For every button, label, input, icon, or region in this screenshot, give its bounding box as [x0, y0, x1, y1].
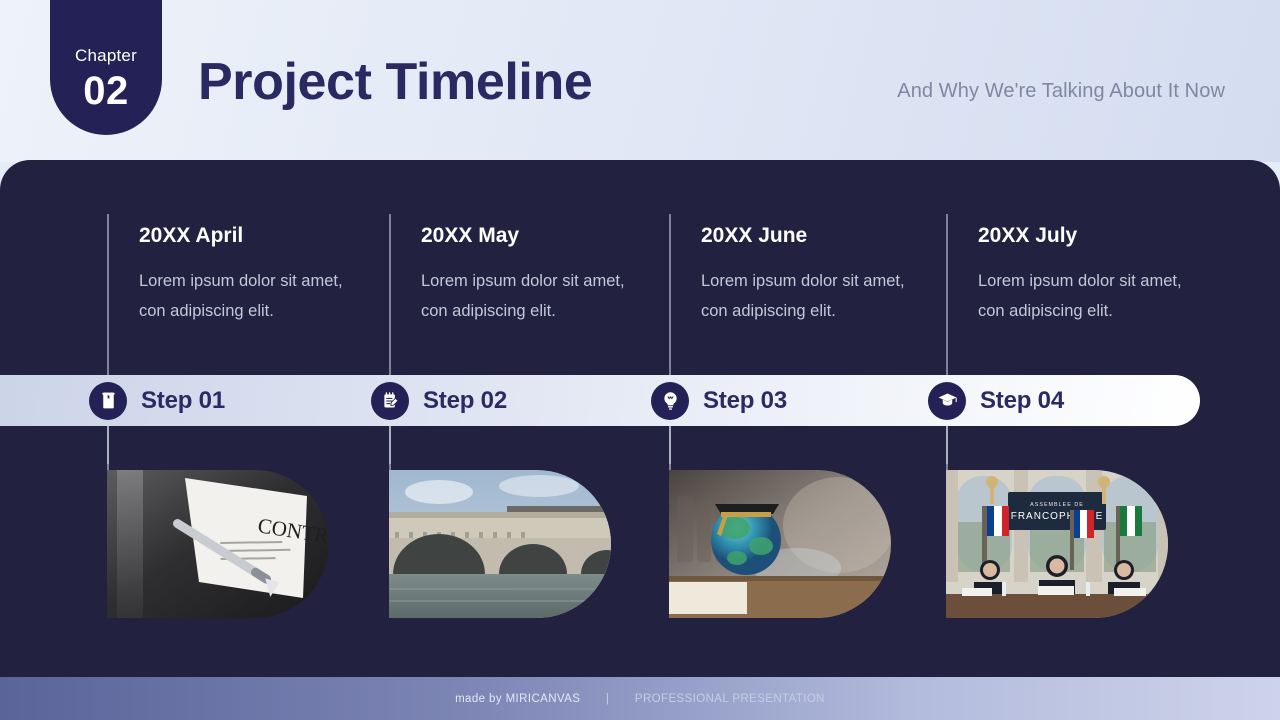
step-label: Step 02 — [423, 387, 507, 415]
chapter-word: Chapter — [75, 47, 137, 64]
column-description: Lorem ipsum dolor sit amet, con adipisci… — [139, 266, 354, 326]
slide: Chapter 02 Project Timeline And Why We'r… — [0, 0, 1280, 720]
globe-graduation-cap-photo — [669, 470, 891, 618]
column-description: Lorem ipsum dolor sit amet, con adipisci… — [421, 266, 636, 326]
paris-bridge-photo — [389, 470, 611, 618]
column-title: 20XX May — [421, 224, 519, 248]
step-item-4[interactable]: Step 04 — [928, 375, 1064, 426]
footer-separator: | — [606, 693, 609, 705]
chapter-number: 02 — [83, 71, 129, 111]
column-description: Lorem ipsum dolor sit amet, con adipisci… — [701, 266, 916, 326]
step-label: Step 03 — [703, 387, 787, 415]
francophonie-assembly-photo: ASSEMBLEE DE FRANCOPHONIE — [946, 470, 1168, 618]
slide-header: Chapter 02 Project Timeline And Why We'r… — [0, 0, 1280, 162]
contract-with-pen-photo: CONTR — [107, 470, 329, 618]
column-divider-lower — [389, 426, 391, 470]
slide-footer: made by MIRICANVAS | PROFESSIONAL PRESEN… — [0, 677, 1280, 720]
step-item-2[interactable]: Step 02 — [371, 375, 507, 426]
step-label: Step 01 — [141, 387, 225, 415]
column-title: 20XX April — [139, 224, 243, 248]
column-title: 20XX June — [701, 224, 807, 248]
footer-tagline: PROFESSIONAL PRESENTATION — [635, 693, 825, 705]
step-item-3[interactable]: Step 03 — [651, 375, 787, 426]
notepad-pencil-icon — [371, 382, 409, 420]
graduation-cap-icon — [928, 382, 966, 420]
step-item-1[interactable]: Step 01 — [89, 375, 225, 426]
page-title: Project Timeline — [198, 52, 592, 112]
step-label: Step 04 — [980, 387, 1064, 415]
column-divider-lower — [946, 426, 948, 470]
book-icon — [89, 382, 127, 420]
column-divider-lower — [107, 426, 109, 470]
footer-credit: made by MIRICANVAS | PROFESSIONAL PRESEN… — [455, 693, 825, 705]
svg-text:ASSEMBLEE DE: ASSEMBLEE DE — [1030, 502, 1084, 508]
page-subtitle: And Why We're Talking About It Now — [897, 80, 1225, 103]
lightbulb-icon — [651, 382, 689, 420]
column-title: 20XX July — [978, 224, 1077, 248]
column-description: Lorem ipsum dolor sit amet, con adipisci… — [978, 266, 1193, 326]
chapter-badge: Chapter 02 — [50, 0, 162, 135]
column-divider-lower — [669, 426, 671, 470]
footer-made-by: made by MIRICANVAS — [455, 693, 580, 705]
